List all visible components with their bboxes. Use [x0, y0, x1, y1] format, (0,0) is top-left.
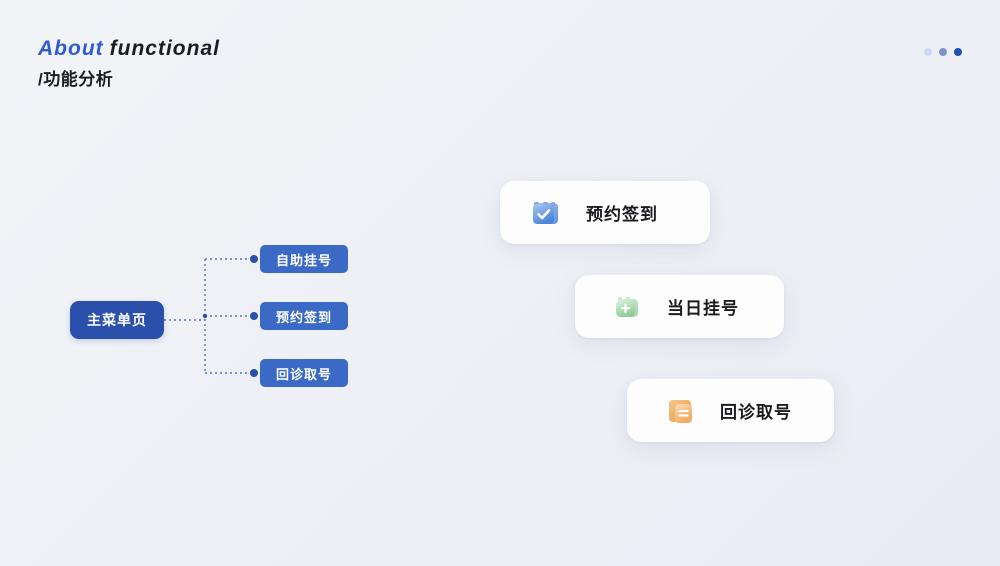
title-english-secondary: functional	[110, 37, 220, 60]
menu-tree-diagram: 主菜单页 自助挂号 预约签到 回诊取号	[60, 235, 380, 410]
feature-card-return-visit[interactable]: 回诊取号	[627, 379, 834, 442]
document-lines-icon	[664, 395, 696, 427]
feature-card-label: 回诊取号	[720, 398, 792, 423]
tree-node-root-label: 主菜单页	[87, 310, 147, 330]
page-title: Aboutfunctional /功能分析	[38, 36, 220, 93]
tree-node-return-visit[interactable]: 回诊取号	[260, 359, 348, 387]
tree-node-appointment-checkin[interactable]: 预约签到	[260, 302, 348, 330]
pager-dot-2-icon[interactable]	[939, 48, 947, 56]
title-english-primary: About	[38, 37, 104, 60]
feature-card-appointment-checkin[interactable]: 预约签到	[500, 181, 710, 244]
tree-node-child-label: 自助挂号	[276, 250, 332, 269]
tree-node-self-registration[interactable]: 自助挂号	[260, 245, 348, 273]
pager-dot-3-icon[interactable]	[954, 48, 962, 56]
title-english: Aboutfunctional	[38, 36, 220, 62]
feature-card-label: 当日挂号	[667, 294, 739, 319]
slide-canvas: Aboutfunctional /功能分析 主菜单页	[0, 0, 1000, 566]
pager-dot-1-icon[interactable]	[924, 48, 932, 56]
tree-node-root[interactable]: 主菜单页	[70, 301, 164, 339]
tree-node-child-label: 回诊取号	[276, 364, 332, 383]
title-chinese: /功能分析	[38, 68, 220, 93]
calendar-check-icon	[529, 197, 561, 229]
feature-card-sameday-registration[interactable]: 当日挂号	[575, 275, 784, 338]
tree-node-child-label: 预约签到	[276, 307, 332, 326]
feature-card-label: 预约签到	[586, 200, 658, 225]
pager-dots[interactable]	[924, 48, 962, 56]
calendar-plus-icon	[611, 291, 643, 323]
